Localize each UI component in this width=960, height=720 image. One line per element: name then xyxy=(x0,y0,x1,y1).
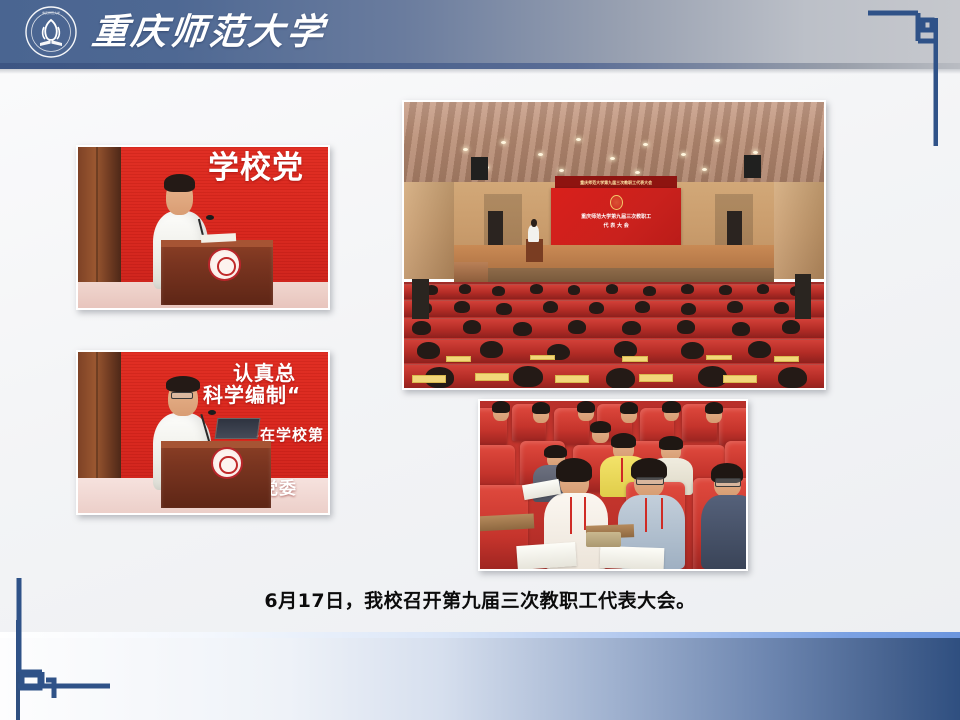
photo-one-backdrop-text: 学校党 xyxy=(208,153,304,184)
photo-speaker-at-podium-two: 认真总 科学编制“ ——在学校第 校党委 xyxy=(76,350,330,515)
chinese-key-pattern-corner-icon-bottom xyxy=(16,576,112,702)
slide-header: 重庆师范大学 重庆师范大学 xyxy=(0,0,960,63)
conference-document-two xyxy=(599,546,664,569)
university-emblem-icon: 重庆师范大学 xyxy=(24,5,78,59)
university-name-title: 重庆师范大学 xyxy=(90,14,328,50)
podium-university-seal-icon xyxy=(208,248,241,280)
footer-band xyxy=(0,638,960,720)
conference-document xyxy=(516,542,576,569)
podium-university-seal-icon xyxy=(211,447,244,479)
svg-text:重庆师范大学: 重庆师范大学 xyxy=(42,10,60,15)
banner-line-two: 代 表 大 会 xyxy=(551,222,681,232)
chinese-key-pattern-corner-icon xyxy=(866,8,938,148)
banner-seal-icon xyxy=(610,195,623,210)
header-shadow xyxy=(0,69,960,74)
delegate-glasses-icon xyxy=(636,477,664,485)
slide-caption: 6月17日，我校召开第九届三次教职工代表大会。 xyxy=(0,586,960,613)
presentation-slide: 重庆师范大学 重庆师范大学 学校党 xyxy=(0,0,960,720)
delegate-glasses-icon-two xyxy=(715,478,741,486)
banner-line-one: 重庆师范大学第九届三次教职工 xyxy=(551,213,681,223)
photo-two-backdrop-line-two: 科学编制“ xyxy=(203,379,301,408)
photo-speaker-at-podium-one: 学校党 xyxy=(76,145,330,310)
photo-audience-delegates xyxy=(478,399,748,571)
speaker-glasses-icon xyxy=(171,392,194,398)
photo-auditorium-wide-view: 重庆师范大学第九届三次教职工代表大会 重庆师范大学第九届三次教职工 代 表 大 … xyxy=(402,100,826,390)
